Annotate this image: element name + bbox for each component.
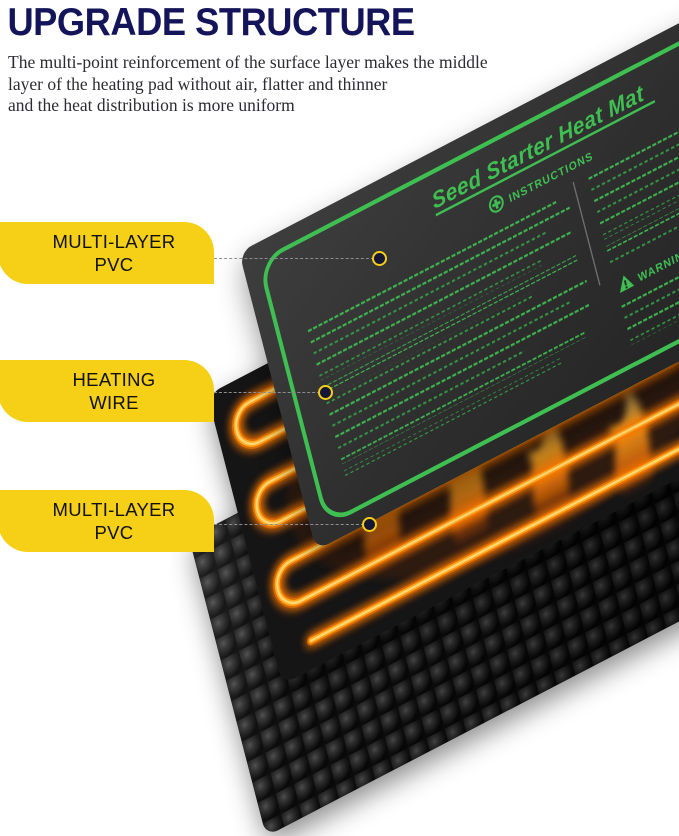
intro-line-3: and the heat distribution is more unifor… bbox=[8, 95, 608, 117]
connector-line-bottom-pvc bbox=[214, 524, 364, 525]
callout-3-label: MULTI-LAYERPVC bbox=[37, 498, 176, 544]
callout-2-label: HEATINGWIRE bbox=[57, 368, 156, 414]
anchor-marker-heating-wire bbox=[318, 385, 333, 400]
anchor-marker-bottom-pvc bbox=[362, 517, 377, 532]
callout-multi-layer-pvc-top[interactable]: MULTI-LAYERPVC bbox=[0, 222, 214, 284]
connector-line-heating-wire bbox=[214, 392, 320, 393]
intro-paragraph: The multi-point reinforcement of the sur… bbox=[0, 43, 608, 117]
page-title: UPGRADE STRUCTURE bbox=[0, 0, 631, 43]
intro-line-1: The multi-point reinforcement of the sur… bbox=[8, 52, 608, 74]
anchor-marker-top-pvc bbox=[372, 251, 387, 266]
callout-1-label: MULTI-LAYERPVC bbox=[37, 230, 176, 276]
intro-line-2: layer of the heating pad without air, fl… bbox=[8, 74, 608, 96]
connector-line-top-pvc bbox=[214, 258, 374, 259]
callout-multi-layer-pvc-bottom[interactable]: MULTI-LAYERPVC bbox=[0, 490, 214, 552]
header: UPGRADE STRUCTURE The multi-point reinfo… bbox=[0, 0, 679, 117]
callout-heating-wire[interactable]: HEATINGWIRE bbox=[0, 360, 214, 422]
